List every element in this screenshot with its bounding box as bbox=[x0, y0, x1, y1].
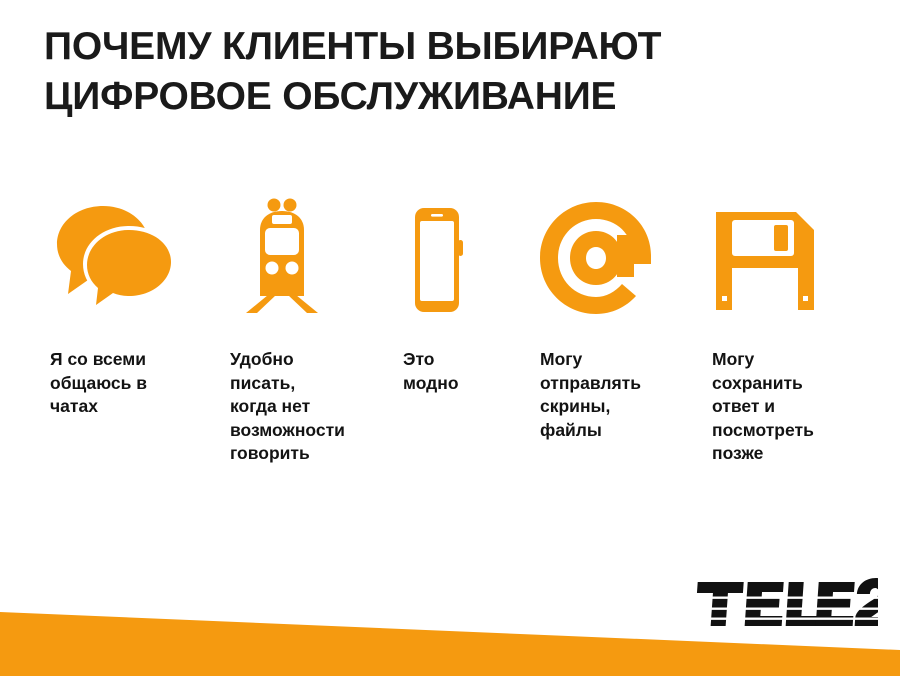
page-title: ПОЧЕМУ КЛИЕНТЫ ВЫБИРАЮТ ЦИФРОВОЕ ОБСЛУЖИ… bbox=[44, 22, 844, 122]
benefit-caption: Это модно bbox=[403, 348, 523, 395]
train-icon bbox=[238, 196, 390, 314]
floppy-disk-icon bbox=[712, 196, 877, 314]
footer-accent-wedge bbox=[0, 606, 900, 676]
benefit-column-4: Могу отправлять скрины, файлы bbox=[540, 196, 700, 442]
benefit-column-1: Я со всеми общаюсь в чатах bbox=[50, 196, 215, 419]
benefit-caption: Могу сохранить ответ и посмотреть позже bbox=[712, 348, 877, 466]
chat-bubbles-icon bbox=[55, 196, 215, 314]
benefits-row: Я со всеми общаюсь в чатах bbox=[0, 196, 900, 496]
benefit-column-5: Могу сохранить ответ и посмотреть позже bbox=[712, 196, 877, 466]
benefit-caption: Удобно писать, когда нет возможности гов… bbox=[230, 348, 390, 466]
benefit-caption: Я со всеми общаюсь в чатах bbox=[50, 348, 215, 419]
smartphone-icon bbox=[409, 196, 523, 314]
benefit-caption: Могу отправлять скрины, файлы bbox=[540, 348, 700, 442]
benefit-column-2: Удобно писать, когда нет возможности гов… bbox=[230, 196, 390, 466]
slide-canvas: ПОЧЕМУ КЛИЕНТЫ ВЫБИРАЮТ ЦИФРОВОЕ ОБСЛУЖИ… bbox=[0, 0, 900, 676]
benefit-column-3: Это модно bbox=[403, 196, 523, 395]
at-sign-icon bbox=[540, 196, 700, 314]
